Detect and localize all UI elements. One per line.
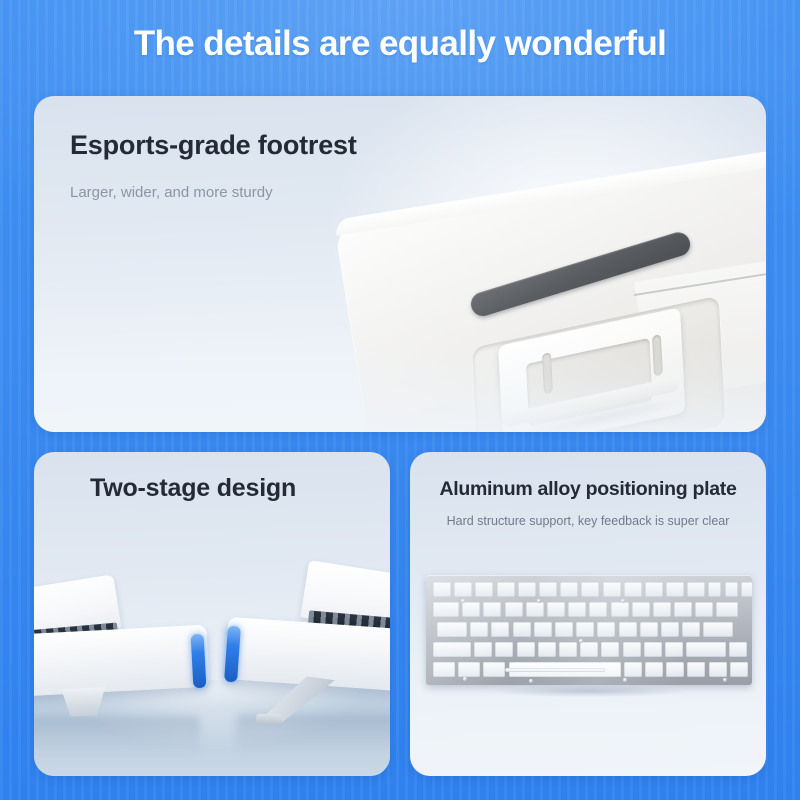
- keyboard-stage-two: [212, 564, 390, 724]
- aluminum-plate-photo: [426, 575, 752, 685]
- keyboard-reflection: [34, 716, 200, 756]
- photo-floor-fade: [34, 342, 766, 432]
- card-subtitle: Larger, wider, and more sturdy: [70, 184, 273, 201]
- card-heading: Aluminum alloy positioning plate: [410, 478, 766, 501]
- plate-drop-shadow: [452, 685, 726, 701]
- keyboard-stage-one: [34, 576, 230, 716]
- keyboard-lower-shell: [34, 625, 209, 698]
- card-esports-grade-footrest: Esports-grade footrest Larger, wider, an…: [34, 96, 766, 432]
- aluminum-plate: [426, 575, 752, 685]
- plate-metal-sheen: [426, 575, 752, 685]
- card-aluminum-alloy-plate: Aluminum alloy positioning plate Hard st…: [410, 452, 766, 776]
- two-stage-product-photo: [34, 540, 390, 776]
- card-heading: Two-stage design: [90, 474, 296, 503]
- folding-foot-stage-one: [61, 687, 106, 717]
- page-title: The details are equally wonderful: [0, 24, 800, 64]
- blue-side-accent: [191, 634, 207, 689]
- card-heading: Esports-grade footrest: [70, 130, 357, 161]
- card-two-stage-design: Two-stage design: [34, 452, 390, 776]
- folding-foot-tip: [256, 714, 282, 726]
- card-subtitle: Hard structure support, key feedback is …: [410, 514, 766, 528]
